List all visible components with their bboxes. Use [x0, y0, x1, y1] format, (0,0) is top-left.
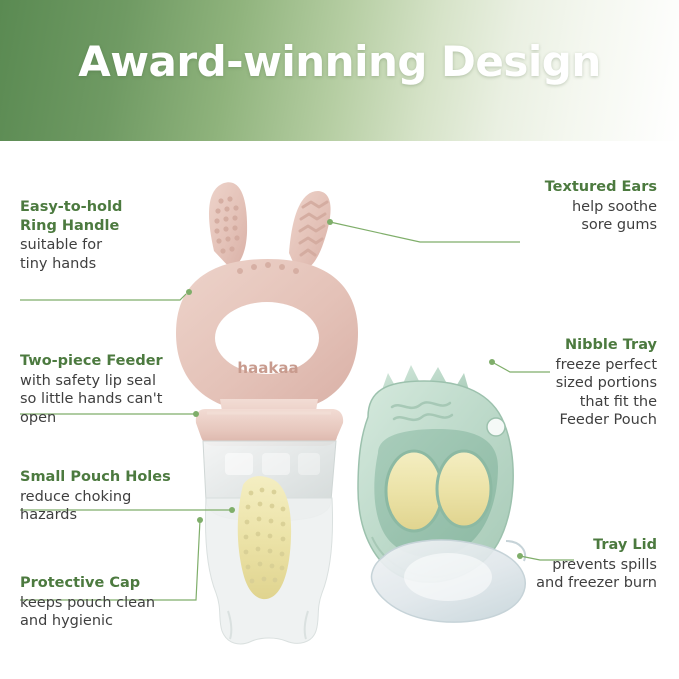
callout-title: Easy-to-hold Ring Handle	[20, 198, 195, 235]
callout-easy-to-hold-ring-handle: Easy-to-hold Ring Handle suitable for ti…	[20, 198, 195, 273]
callout-body: reduce choking hazards	[20, 488, 230, 525]
callout-nibble-tray: Nibble Tray freeze perfect sized portion…	[427, 336, 657, 430]
callout-body: suitable for tiny hands	[20, 236, 195, 273]
callout-two-piece-feeder: Two-piece Feeder with safety lip seal so…	[20, 352, 220, 427]
callout-title: Tray Lid	[427, 536, 657, 555]
callout-title: Small Pouch Holes	[20, 468, 230, 487]
header-banner: Award-winning Design	[0, 0, 679, 141]
callout-body: prevents spills and freezer burn	[427, 556, 657, 593]
brand-logo: haakaa	[237, 359, 298, 377]
callout-textured-ears: Textured Ears help soothe sore gums	[417, 178, 657, 235]
callout-title: Textured Ears	[417, 178, 657, 197]
callout-title: Nibble Tray	[427, 336, 657, 355]
product-feature-infographic: Award-winning Design	[0, 0, 679, 679]
food-portion-left	[386, 451, 442, 531]
textured-ears-graphic	[209, 182, 331, 271]
callout-small-pouch-holes: Small Pouch Holes reduce choking hazards	[20, 468, 230, 525]
page-title: Award-winning Design	[0, 37, 679, 86]
callout-body: freeze perfect sized portions that fit t…	[427, 356, 657, 430]
callout-body: keeps pouch clean and hygienic	[20, 594, 230, 631]
food-portion-right	[437, 451, 491, 527]
callout-title: Protective Cap	[20, 574, 230, 593]
callout-body: help soothe sore gums	[417, 198, 657, 235]
callout-title: Two-piece Feeder	[20, 352, 220, 371]
callout-body: with safety lip seal so little hands can…	[20, 372, 220, 428]
callout-tray-lid: Tray Lid prevents spills and freezer bur…	[427, 536, 657, 593]
callout-protective-cap: Protective Cap keeps pouch clean and hyg…	[20, 574, 230, 631]
